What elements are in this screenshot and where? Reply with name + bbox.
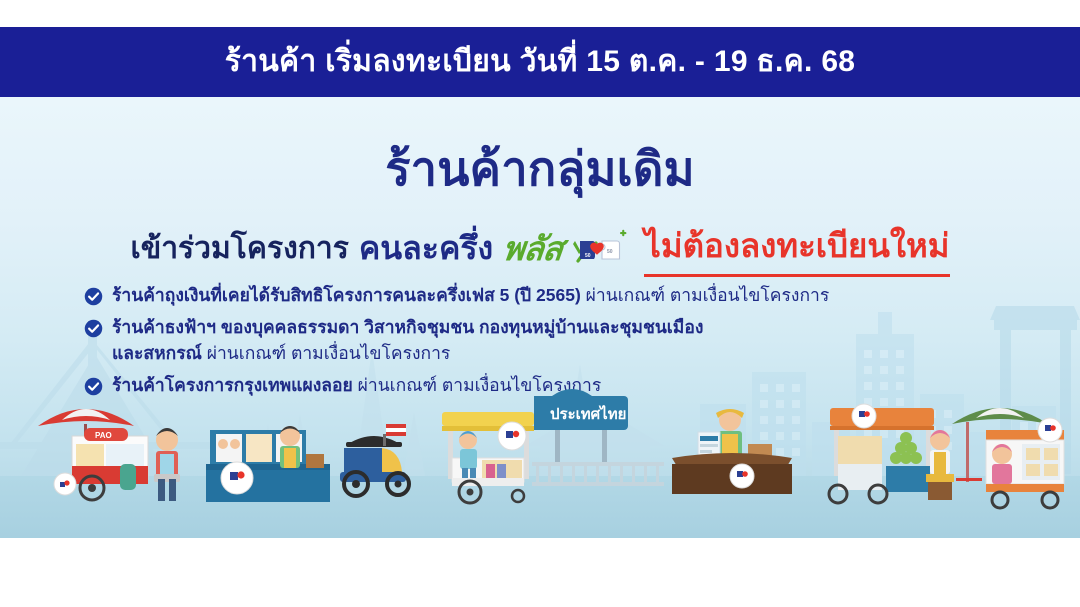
subtitle-part-plus: พลัส bbox=[500, 222, 565, 275]
khon-la-khrueng-plus-logo: 50 50 bbox=[572, 227, 634, 269]
subtitle-part-join: เข้าร่วมโครงการ bbox=[130, 225, 348, 272]
subtitle-part-no-reregister: ไม่ต้องลงทะเบียนใหม่ bbox=[644, 219, 949, 277]
check-circle-icon bbox=[84, 319, 103, 338]
banner-stage: ร้านค้ากลุ่มเดิม เข้าร่วมโครงการ คนละครึ… bbox=[0, 97, 1080, 538]
green-umbrella-cart bbox=[952, 408, 1064, 508]
bullet-1-regular: ผ่านเกณฑ์ ตามเงื่อนไขโครงการ bbox=[581, 285, 829, 305]
promo-banner: ร้านค้า เริ่มลงทะเบียน วันที่ 15 ต.ค. - … bbox=[0, 0, 1080, 607]
bullet-2-continuation-bold: และสหกรณ์ bbox=[112, 343, 202, 363]
puzzle-left-label-50: 50 bbox=[585, 253, 591, 259]
thailand-sign: ประเทศไทย bbox=[532, 389, 664, 486]
blue-food-stall bbox=[206, 426, 330, 502]
bullet-2-bold: ร้านค้าธงฟ้าฯ ของบุคคลธรรมดา วิสาหกิจชุม… bbox=[112, 317, 703, 337]
tuk-tuk bbox=[340, 424, 409, 496]
list-item: ร้านค้าถุงเงินที่เคยได้รับสิทธิโครงการคน… bbox=[84, 283, 1014, 308]
list-item: ร้านค้าธงฟ้าฯ ของบุคคลธรรมดา วิสาหกิจชุม… bbox=[84, 315, 1014, 366]
street-vendor-person bbox=[154, 428, 180, 501]
yellow-drink-cart bbox=[442, 412, 534, 503]
bottom-white-strip bbox=[0, 538, 1080, 607]
orange-market-stall bbox=[829, 404, 954, 503]
bullet-2-continuation-regular: ผ่านเกณฑ์ ตามเงื่อนไขโครงการ bbox=[202, 343, 450, 363]
cart-sign-pao: PAO bbox=[95, 431, 112, 440]
subtitle-part-program: คนละครึ่ง bbox=[359, 223, 493, 274]
page-title: ร้านค้ากลุ่มเดิม bbox=[0, 145, 1080, 192]
umbrella-food-cart: PAO bbox=[38, 409, 148, 500]
check-circle-icon bbox=[84, 287, 103, 306]
wooden-counter-stall bbox=[672, 409, 792, 494]
list-item-text: ร้านค้าถุงเงินที่เคยได้รับสิทธิโครงการคน… bbox=[112, 283, 829, 308]
puzzle-right-label-50: 50 bbox=[607, 249, 613, 255]
subtitle-row: เข้าร่วมโครงการ คนละครึ่ง พลัส 50 50 bbox=[0, 219, 1080, 277]
list-item-text: ร้านค้าธงฟ้าฯ ของบุคคลธรรมดา วิสาหกิจชุม… bbox=[112, 315, 703, 366]
header-title: ร้านค้า เริ่มลงทะเบียน วันที่ 15 ต.ค. - … bbox=[225, 47, 856, 77]
thailand-sign-label: ประเทศไทย bbox=[550, 404, 626, 423]
top-white-strip bbox=[0, 0, 1080, 27]
bullet-1-bold: ร้านค้าถุงเงินที่เคยได้รับสิทธิโครงการคน… bbox=[112, 285, 581, 305]
header-bar: ร้านค้า เริ่มลงทะเบียน วันที่ 15 ต.ค. - … bbox=[0, 27, 1080, 97]
street-vendor-illustration: PAO bbox=[0, 378, 1080, 538]
